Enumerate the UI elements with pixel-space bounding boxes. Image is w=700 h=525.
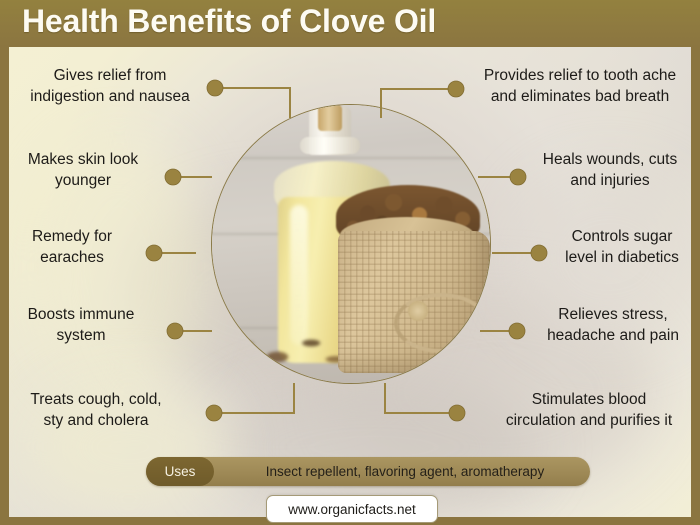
benefit-label-sugar-diabetics: Controls sugar level in diabetics — [551, 227, 693, 268]
oil-bottle-lip — [300, 137, 360, 154]
clove-oil-photo — [212, 105, 490, 383]
plank-seam — [211, 157, 491, 159]
benefit-label-wounds-cuts: Heals wounds, cuts and injuries — [530, 150, 690, 191]
benefit-label-skin-younger: Makes skin look younger — [8, 150, 158, 191]
page-title: Health Benefits of Clove Oil — [22, 3, 436, 40]
infographic-root: Health Benefits of Clove Oil — [0, 0, 700, 525]
loose-cloves — [216, 321, 352, 379]
title-bar: Health Benefits of Clove Oil — [0, 0, 700, 47]
bottle-cork — [318, 105, 342, 131]
content-panel — [9, 47, 691, 517]
benefit-label-tooth-ache: Provides relief to tooth ache and elimin… — [466, 66, 694, 107]
uses-bar: Uses Insect repellent, flavoring agent, … — [146, 457, 590, 486]
benefit-label-cough-cold: Treats cough, cold, sty and cholera — [6, 390, 186, 431]
benefit-label-earaches: Remedy for earaches — [4, 227, 140, 268]
benefit-label-stress-headache: Relieves stress, headache and pain — [532, 305, 694, 346]
uses-label: Uses — [146, 457, 214, 486]
twine-bow — [394, 293, 488, 353]
benefit-label-indigestion-nausea: Gives relief from indigestion and nausea — [14, 66, 206, 107]
benefit-label-immune-system: Boosts immune system — [6, 305, 156, 346]
center-photo-circle — [211, 104, 491, 384]
website-badge[interactable]: www.organicfacts.net — [266, 495, 438, 523]
benefit-label-blood-circulation: Stimulates blood circulation and purifie… — [484, 390, 694, 431]
twine-knot — [408, 301, 428, 321]
uses-value: Insect repellent, flavoring agent, aroma… — [220, 457, 590, 486]
